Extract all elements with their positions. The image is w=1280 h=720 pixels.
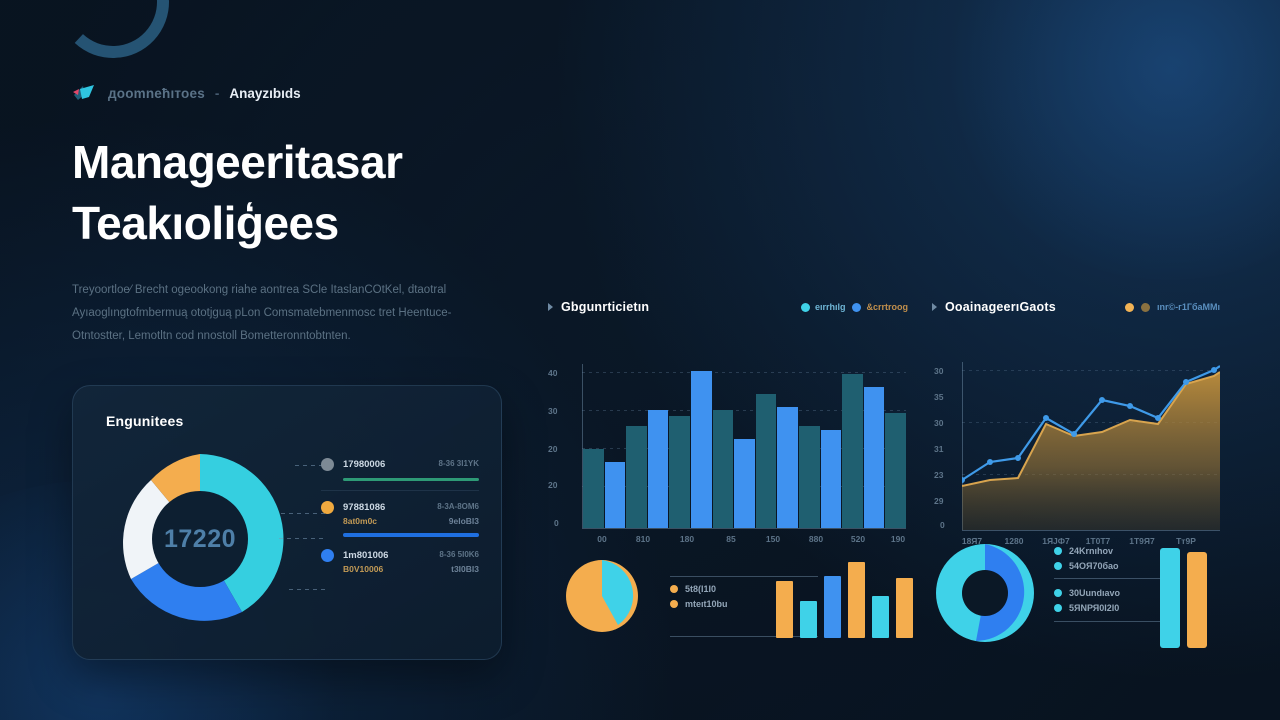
legend-dot — [1054, 562, 1062, 570]
bar[interactable] — [799, 426, 820, 528]
list-item[interactable]: 97881086 8-3A-8OM6 8at0m0c 9eIoBI3 — [321, 501, 479, 537]
legend-label: 1m801006 — [343, 550, 388, 561]
legend-subvalue: 9eIoBI3 — [449, 516, 479, 526]
dashboard-stage: дoomneħıтоes - Anayzıbıds Manageeritasar… — [0, 0, 1280, 720]
two-bar-series — [1160, 544, 1207, 648]
page-title-line1: Manageeritasar — [72, 136, 403, 188]
x-tick: 190 — [878, 534, 918, 544]
donut-chart-small — [936, 544, 1034, 642]
legend-label: 5t8(I1I0 — [685, 584, 716, 594]
y-tick: 30 — [934, 418, 943, 428]
legend-dot — [321, 501, 334, 514]
legend-dot — [1054, 604, 1062, 612]
card-title: Engunitees — [106, 413, 183, 429]
bar[interactable] — [713, 410, 734, 528]
bar[interactable] — [669, 416, 690, 528]
x-tick: 180 — [667, 534, 707, 544]
mini-bar-series — [776, 560, 913, 638]
legend-dot[interactable] — [1125, 303, 1134, 312]
bar[interactable] — [777, 407, 798, 528]
bar[interactable] — [776, 581, 793, 638]
x-tick: 00 — [582, 534, 622, 544]
y-tick: 0 — [940, 520, 945, 530]
legend-dot — [1054, 589, 1062, 597]
bar[interactable] — [691, 371, 712, 528]
arrow-logo-icon — [72, 83, 98, 103]
x-axis — [582, 528, 906, 529]
legend-item[interactable]: 30Uundıavo — [1054, 588, 1172, 598]
legend-label: 17980006 — [343, 459, 385, 470]
area-plot-area: 30 35 30 31 23 29 0 — [932, 328, 1220, 526]
chart-legend: eırrhılg &crrtroog — [801, 302, 908, 312]
bar[interactable] — [824, 576, 841, 638]
legend-dot — [1054, 547, 1062, 555]
bar[interactable] — [821, 430, 842, 528]
legend-label: &crrtroog — [866, 302, 908, 312]
caret-right-icon — [932, 303, 937, 311]
legend-item[interactable]: &crrtroog — [852, 302, 908, 312]
donut-bars-widget: 24Krnıhov 54OЯ70бао 30Uundıavo 5ЯNРЯ0I2I… — [932, 538, 1220, 658]
page-title: Manageeritasar Teakıoliģees — [72, 132, 502, 253]
bar[interactable] — [800, 601, 817, 638]
bar[interactable] — [848, 562, 865, 638]
legend-dot — [801, 303, 810, 312]
bar[interactable] — [648, 410, 669, 528]
leader-line-3 — [279, 538, 325, 539]
bar[interactable] — [896, 578, 913, 638]
legend-label: 5ЯNРЯ0I2I0 — [1069, 603, 1119, 613]
legend-dot — [321, 549, 334, 562]
top-right-glow — [940, 0, 1280, 280]
legend-label: 54OЯ70бао — [1069, 561, 1119, 571]
pie-bars-widget: 5t8(I1I0 mteıt10bu — [548, 548, 908, 660]
x-tick: 520 — [838, 534, 878, 544]
y-tick: 23 — [934, 470, 943, 480]
progress-bar — [343, 533, 479, 537]
x-tick: 150 — [753, 534, 793, 544]
divider — [321, 490, 479, 491]
y-tick: 31 — [934, 444, 943, 454]
breadcrumb: дoomneħıтоes - Anayzıbıds — [72, 80, 502, 106]
bar[interactable] — [842, 374, 863, 528]
bar[interactable] — [583, 449, 604, 528]
legend-value: 8-36 3I1YK — [439, 459, 479, 470]
legend-dot[interactable] — [1141, 303, 1150, 312]
leader-line-2 — [281, 513, 325, 514]
legend-item[interactable]: 54OЯ70бао — [1054, 561, 1172, 571]
progress-bar — [343, 478, 479, 481]
y-tick: 35 — [934, 392, 943, 402]
legend-dot — [852, 303, 861, 312]
legend-item[interactable]: 24Krnıhov — [1054, 546, 1172, 556]
list-item[interactable]: 1m801006 8-36 5I0K6 B0V10006 t3I0BI3 — [321, 549, 479, 574]
breadcrumb-root[interactable]: дoomneħıтоes — [108, 86, 205, 101]
legend-label: 97881086 — [343, 502, 385, 513]
legend-sublabel: 8at0m0c — [343, 516, 377, 526]
x-tick: 810 — [623, 534, 663, 544]
y-tick: 29 — [934, 496, 943, 506]
bar[interactable] — [756, 394, 777, 528]
divider — [1054, 578, 1172, 579]
legend-label: 24Krnıhov — [1069, 546, 1113, 556]
y-tick: 30 — [934, 366, 943, 376]
legend-item[interactable]: eırrhılg — [801, 302, 846, 312]
chart-legend: ınr©-г1ГбаMMı — [1125, 302, 1220, 312]
legend-subvalue: t3I0BI3 — [451, 564, 479, 574]
panel-title: OoainageerıGaots — [945, 300, 1056, 314]
bar[interactable] — [734, 439, 755, 528]
donut-chart: 17220 — [109, 448, 291, 630]
donut-center-value: 17220 — [109, 448, 291, 630]
y-tick: 30 — [548, 406, 557, 416]
breadcrumb-separator: - — [215, 86, 220, 101]
panel-header: OoainageerıGaots ınr©-г1ГбаMMı — [932, 298, 1220, 316]
widget-legend: 24Krnıhov 54OЯ70бао 30Uundıavo 5ЯNРЯ0I2I… — [1054, 546, 1172, 622]
bar[interactable] — [1187, 552, 1207, 648]
legend-item[interactable]: 5ЯNРЯ0I2I0 — [1054, 603, 1172, 613]
x-axis — [962, 530, 1220, 531]
bar[interactable] — [872, 596, 889, 638]
bar[interactable] — [626, 426, 647, 528]
legend-label: ınr©-г1ГбаMMı — [1157, 302, 1220, 312]
legend-dot — [321, 458, 334, 471]
y-tick: 40 — [548, 368, 557, 378]
caret-right-icon — [548, 303, 553, 311]
legend-label: mteıt10bu — [685, 599, 728, 609]
legend-sublabel: B0V10006 — [343, 564, 383, 574]
intro-paragraph: Treyoortloe⁄ Brecht ogeookong riahe aont… — [72, 279, 482, 348]
area-series — [962, 362, 1220, 530]
bar-plot-area: 40 30 20 20 0 00 810 180 85 150 880 520 … — [548, 328, 908, 526]
list-item[interactable]: 17980006 8-36 3I1YK — [321, 458, 479, 481]
left-column: дoomneħıтоes - Anayzıbıds Manageeritasar… — [72, 80, 502, 348]
legend-value: 8-3A-8OM6 — [437, 502, 479, 513]
divider — [1054, 621, 1172, 622]
pie-chart — [566, 560, 638, 632]
bar-chart-panel: Gbgunrticietın eırrhılg &crrtroog 40 30 … — [548, 298, 908, 526]
decorative-arc — [55, 0, 171, 60]
legend-dot — [670, 585, 678, 593]
y-tick: 20 — [548, 444, 557, 454]
panel-title: Gbgunrticietın — [561, 300, 649, 314]
x-tick: 85 — [711, 534, 751, 544]
bar[interactable] — [885, 413, 906, 528]
area-chart-panel: OoainageerıGaots ınr©-г1ГбаMMı 30 35 30 … — [932, 298, 1220, 526]
legend-label: eırrhılg — [815, 302, 846, 312]
legend-value: 8-36 5I0K6 — [439, 550, 479, 561]
y-tick: 20 — [548, 480, 557, 490]
bar[interactable] — [864, 387, 885, 528]
page-title-line2: Teakıoliģees — [72, 193, 502, 254]
legend-dot — [670, 600, 678, 608]
bar-series — [583, 364, 906, 528]
donut-legend: 17980006 8-36 3I1YK 97881086 8-3A-8OM6 8… — [321, 458, 479, 583]
leader-line-4 — [289, 589, 325, 590]
bar[interactable] — [1160, 548, 1180, 648]
engagement-card: Engunitees 17220 — [72, 385, 502, 660]
y-tick: 0 — [554, 518, 559, 528]
panel-header: Gbgunrticietın eırrhılg &crrtroog — [548, 298, 908, 316]
x-tick: 880 — [796, 534, 836, 544]
bar[interactable] — [605, 462, 626, 528]
breadcrumb-current[interactable]: Anayzıbıds — [229, 86, 300, 101]
legend-label: 30Uundıavo — [1069, 588, 1120, 598]
